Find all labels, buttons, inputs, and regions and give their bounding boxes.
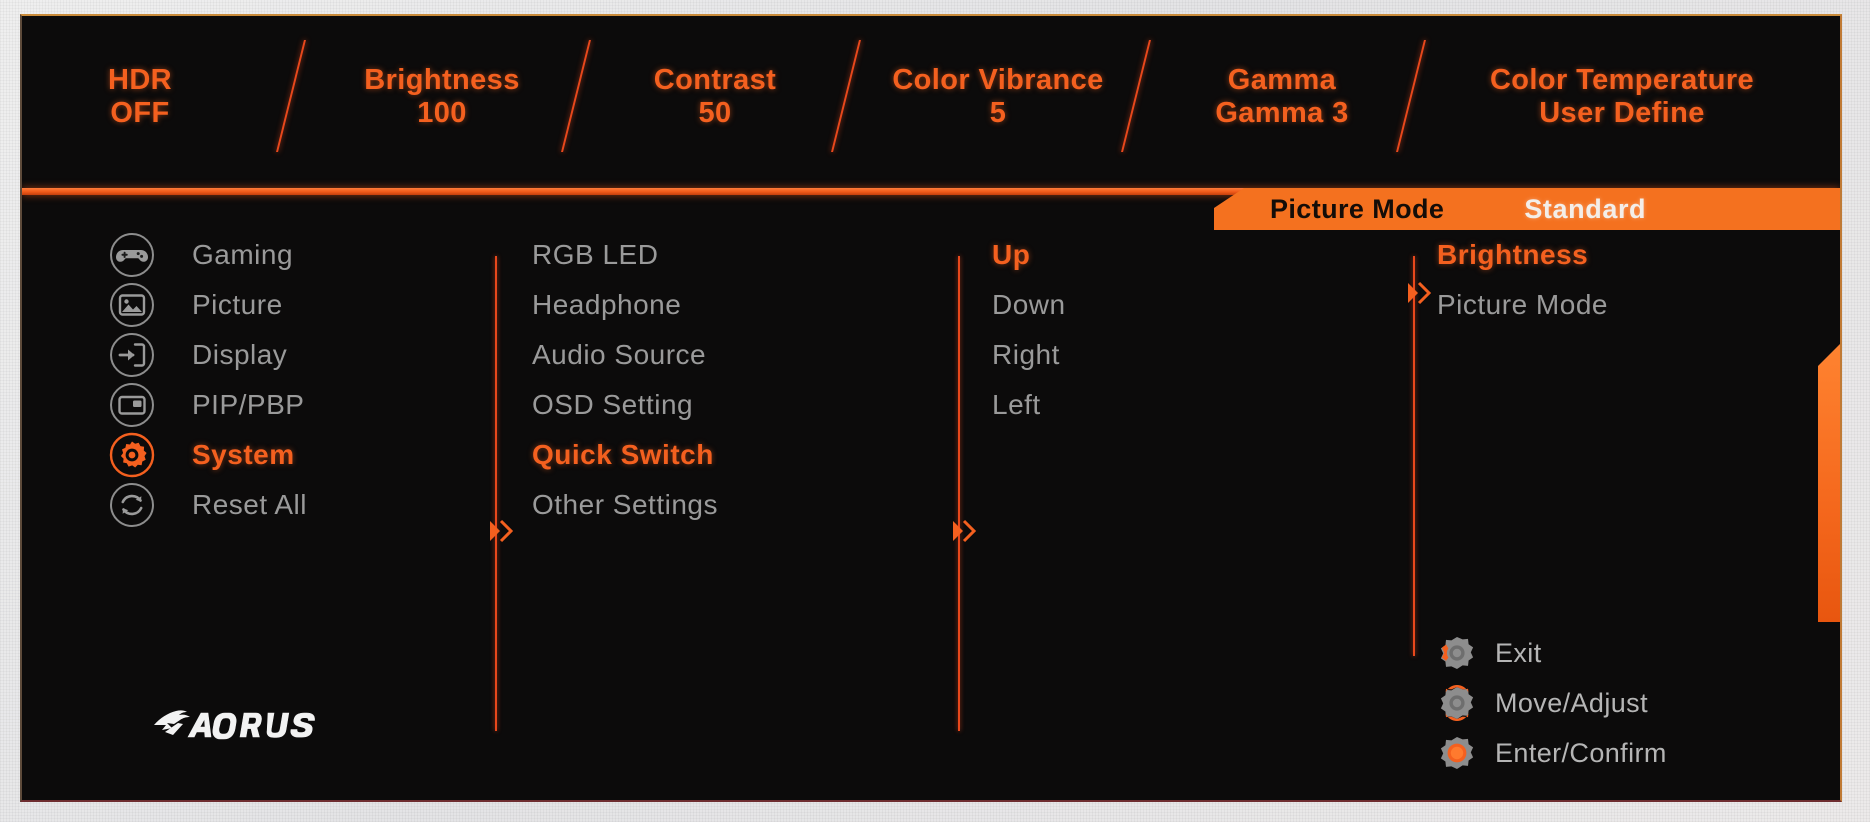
menu-item-label: Brightness xyxy=(1437,239,1588,271)
menu-column-quick-switch: Up Down Right Left xyxy=(992,230,1272,430)
quick-info-brightness[interactable]: Brightness 100 xyxy=(312,64,572,130)
quick-info-separator xyxy=(276,40,306,152)
sidebar-item-label: Picture xyxy=(192,289,283,321)
current-setting-header: Picture Mode Standard xyxy=(1214,188,1840,230)
quick-info-color-temperature-label: Color Temperature xyxy=(1422,64,1822,97)
menu-item-label: Down xyxy=(992,289,1066,321)
aorus-logo xyxy=(152,699,342,749)
menu-item-audio-source[interactable]: Audio Source xyxy=(532,330,832,380)
sidebar-item-reset-all[interactable]: Reset All xyxy=(108,480,428,530)
joystick-left-icon xyxy=(1437,633,1477,673)
joystick-move-icon xyxy=(1437,683,1477,723)
legend-label: Exit xyxy=(1495,638,1542,669)
menu-item-label: OSD Setting xyxy=(532,389,693,421)
chevron-right-icon xyxy=(947,514,981,548)
menu-item-up[interactable]: Up xyxy=(992,230,1272,280)
sidebar-item-gaming[interactable]: Gaming xyxy=(108,230,428,280)
menu-item-label: Left xyxy=(992,389,1041,421)
legend-label: Move/Adjust xyxy=(1495,688,1648,719)
sidebar-item-pip-pbp[interactable]: PIP/PBP xyxy=(108,380,428,430)
current-setting-value: Standard xyxy=(1524,194,1646,225)
joystick-press-icon xyxy=(1437,733,1477,773)
menu-item-osd-setting[interactable]: OSD Setting xyxy=(532,380,832,430)
osd-panel: HDR OFF Brightness 100 Contrast 50 Color… xyxy=(20,14,1842,802)
menu-item-brightness[interactable]: Brightness xyxy=(1437,230,1767,280)
sidebar-item-label: Display xyxy=(192,339,287,371)
sidebar-item-label: System xyxy=(192,439,295,471)
quick-info-contrast-label: Contrast xyxy=(590,64,840,97)
image-icon xyxy=(108,281,156,329)
menu-item-label: Audio Source xyxy=(532,339,706,371)
gamepad-icon xyxy=(108,231,156,279)
quick-info-brightness-label: Brightness xyxy=(312,64,572,97)
menu-item-other-settings[interactable]: Other Settings xyxy=(532,480,832,530)
quick-info-hdr[interactable]: HDR OFF xyxy=(40,64,240,130)
column-divider xyxy=(1413,256,1415,656)
quick-info-gamma-label: Gamma xyxy=(1142,64,1422,97)
quick-info-color-vibrance[interactable]: Color Vibrance 5 xyxy=(858,64,1138,130)
right-edge-accent-strip xyxy=(1818,344,1840,622)
quick-info-color-temperature[interactable]: Color Temperature User Define xyxy=(1422,64,1822,130)
menu-item-label: Other Settings xyxy=(532,489,718,521)
menu-item-right[interactable]: Right xyxy=(992,330,1272,380)
legend-exit: Exit xyxy=(1437,628,1837,678)
menu-item-rgb-led[interactable]: RGB LED xyxy=(532,230,832,280)
menu-item-label: Headphone xyxy=(532,289,681,321)
sidebar-item-label: Gaming xyxy=(192,239,293,271)
menu-item-label: Right xyxy=(992,339,1060,371)
control-legend: Exit Move/Adjust xyxy=(1437,628,1837,778)
menu-column-root: Gaming Picture xyxy=(108,230,428,530)
menu-item-quick-switch[interactable]: Quick Switch xyxy=(532,430,832,480)
quick-info-contrast-value: 50 xyxy=(590,97,840,130)
input-icon xyxy=(108,331,156,379)
menu-column-up-options: Brightness Picture Mode xyxy=(1437,230,1767,330)
quick-info-color-vibrance-label: Color Vibrance xyxy=(858,64,1138,97)
quick-info-contrast[interactable]: Contrast 50 xyxy=(590,64,840,130)
quick-info-hdr-label: HDR xyxy=(40,64,240,97)
sidebar-item-picture[interactable]: Picture xyxy=(108,280,428,330)
quick-info-gamma-value: Gamma 3 xyxy=(1142,97,1422,130)
menu-item-label: Up xyxy=(992,239,1030,271)
gear-icon xyxy=(108,431,156,479)
menu-item-picture-mode[interactable]: Picture Mode xyxy=(1437,280,1767,330)
menu-item-down[interactable]: Down xyxy=(992,280,1272,330)
quick-info-color-vibrance-value: 5 xyxy=(858,97,1138,130)
menu-item-label: RGB LED xyxy=(532,239,658,271)
sidebar-item-display[interactable]: Display xyxy=(108,330,428,380)
sidebar-item-label: Reset All xyxy=(192,489,307,521)
chevron-right-icon xyxy=(1402,276,1436,310)
legend-label: Enter/Confirm xyxy=(1495,738,1667,769)
menu-item-headphone[interactable]: Headphone xyxy=(532,280,832,330)
menu-column-system: RGB LED Headphone Audio Source OSD Setti… xyxy=(532,230,832,530)
quick-info-brightness-value: 100 xyxy=(312,97,572,130)
chevron-right-icon xyxy=(484,514,518,548)
menu-item-left[interactable]: Left xyxy=(992,380,1272,430)
menu-item-label: Picture Mode xyxy=(1437,289,1608,321)
sidebar-item-label: PIP/PBP xyxy=(192,389,304,421)
sidebar-item-system[interactable]: System xyxy=(108,430,428,480)
legend-enter-confirm: Enter/Confirm xyxy=(1437,728,1837,778)
refresh-icon xyxy=(108,481,156,529)
quick-info-hdr-value: OFF xyxy=(40,97,240,130)
column-divider xyxy=(495,256,497,731)
column-divider xyxy=(958,256,960,731)
screen-photo-backdrop: HDR OFF Brightness 100 Contrast 50 Color… xyxy=(0,0,1870,822)
quick-info-color-temperature-value: User Define xyxy=(1422,97,1822,130)
pip-icon xyxy=(108,381,156,429)
menu-item-label: Quick Switch xyxy=(532,439,714,471)
quick-info-bar: HDR OFF Brightness 100 Contrast 50 Color… xyxy=(22,16,1840,189)
legend-move-adjust: Move/Adjust xyxy=(1437,678,1837,728)
quick-info-gamma[interactable]: Gamma Gamma 3 xyxy=(1142,64,1422,130)
current-setting-label: Picture Mode xyxy=(1270,194,1444,225)
